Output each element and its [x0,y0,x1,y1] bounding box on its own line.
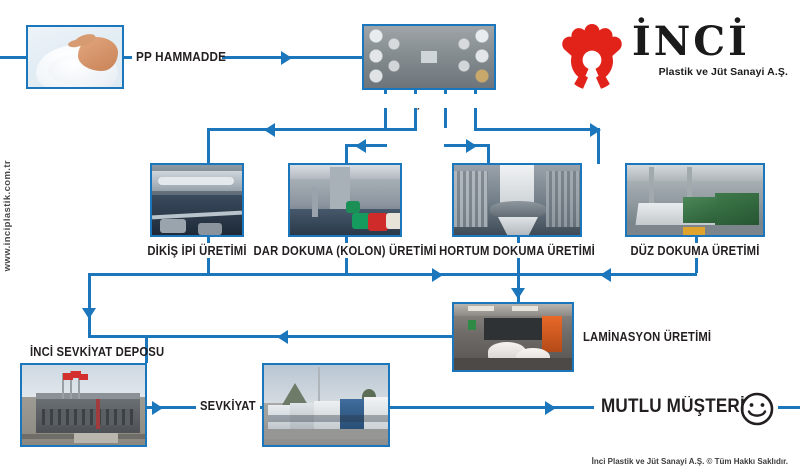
connector-bus-upper-left [207,128,417,131]
narrow-loom-photo [288,163,402,237]
connector-bus-lower-left [345,144,387,147]
node-label-customer: MUTLU MÜŞTERİ [601,396,745,418]
label-mask [365,94,493,108]
node-label-warehouse: İNCİ SEVKİYAT DEPOSU [30,345,164,359]
warehouse-building-photo [20,363,147,447]
connector-lamination-to-warehouse [88,335,454,338]
logo-subtitle: Plastik ve Jüt Sanayi A.Ş. [632,66,788,78]
node-label-raw-material: PP HAMMADDE [136,49,226,64]
website-url: www.inciplastik.com.tr [2,160,13,271]
lamination-machine-photo [452,302,574,372]
company-logo: İNCİ Plastik ve Jüt Sanayi A.Ş. [556,18,788,90]
node-label-narrow-weaving: DAR DOKUMA (KOLON) ÜRETİMİ [254,244,437,258]
node-label-flat-weaving: DÜZ DOKUMA ÜRETİMİ [630,244,759,258]
node-label-tubular-weaving: HORTUM DOKUMA ÜRETİMİ [439,244,595,258]
arrow-to-warehouse [277,330,288,344]
shell-logo-icon [556,18,628,90]
connector-down-to-sewing [207,128,210,164]
connector-bus-upper-right [474,128,600,131]
arrow-to-narrow-weaving [355,139,366,153]
node-label-lamination: LAMİNASYON ÜRETİMİ [583,330,711,344]
node-label-sewing-thread: DİKİŞ İPİ ÜRETİMİ [147,244,246,258]
logo-name: İNCİ [632,20,788,64]
process-flow-diagram: www.inciplastik.com.tr İNCİ Plastik ve J… [0,0,800,473]
arrow-to-lamination [511,288,525,299]
logo-wordmark: İNCİ Plastik ve Jüt Sanayi A.Ş. [632,20,788,78]
pp-granules-photo [26,25,124,89]
connector-start [0,56,28,59]
sewing-line-photo [150,163,244,237]
arrow-to-sewing [264,123,275,137]
connector-down-to-tubular [487,144,490,164]
arrow-bus-right [432,268,443,282]
copyright-footer: İnci Plastik ve Jüt Sanayi A.Ş. © Tüm Ha… [592,457,788,466]
node-label-shipping: SEVKİYAT [200,399,256,413]
arrow-to-tubular-weaving [466,139,477,153]
truck-fleet-photo [262,363,390,447]
arrow-bus-left [600,268,611,282]
flat-loom-photo [625,163,765,237]
tubular-loom-photo [452,163,582,237]
arrow-to-shipping [152,401,163,415]
connector-down-to-flat [597,128,600,164]
arrow-pp-to-yarn [281,51,292,65]
connector-customer-end [778,406,800,409]
yarn-bobbins-photo [362,24,496,90]
connector-bus-to-warehouse [88,273,91,335]
smiley-face-icon [740,392,774,426]
connector-down-to-narrow [345,144,348,164]
connector-trucks-to-customer [390,406,594,409]
arrow-to-customer [545,401,556,415]
arrow-down-left-bus [82,308,96,319]
